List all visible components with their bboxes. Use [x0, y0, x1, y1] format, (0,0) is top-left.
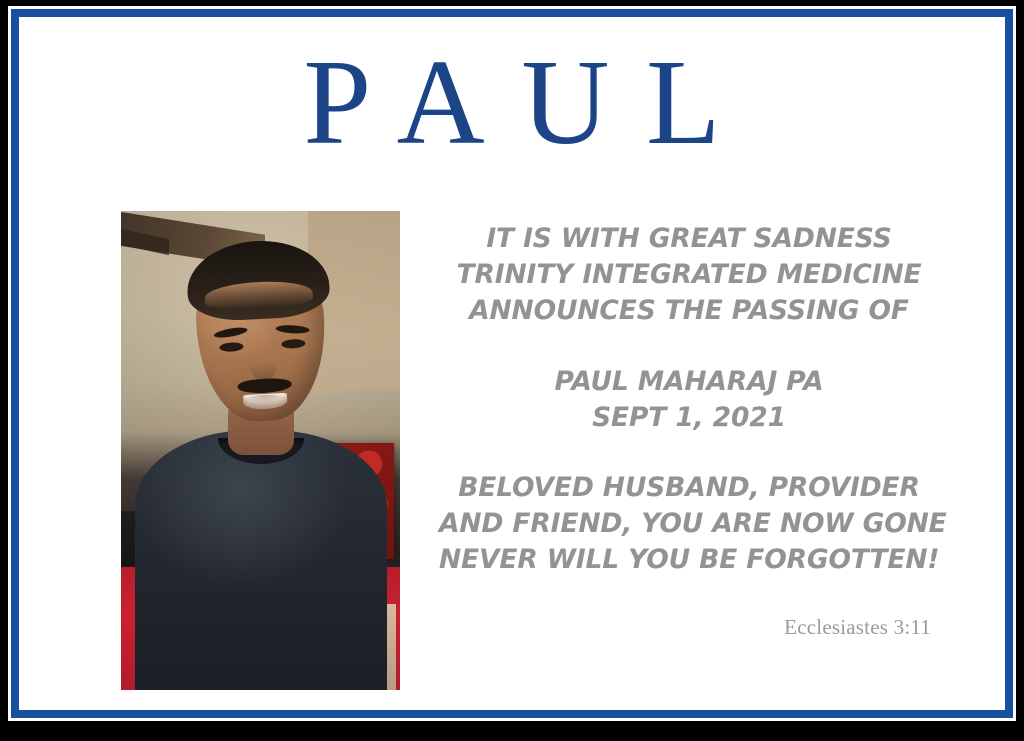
- announcement-page: PAUL: [19, 17, 1005, 710]
- message-line: NEVER WILL YOU BE FORGOTTEN!: [439, 542, 939, 578]
- message-block-announcement: IT IS WITH GREAT SADNESS TRINITY INTEGRA…: [439, 221, 939, 329]
- message-line: AND FRIEND, YOU ARE NOW GONE: [439, 506, 939, 542]
- page-title: PAUL: [19, 39, 1005, 167]
- message-block-tribute: BELOVED HUSBAND, PROVIDER AND FRIEND, YO…: [439, 470, 939, 578]
- message-line: TRINITY INTEGRATED MEDICINE: [439, 257, 939, 293]
- portrait-photo: [121, 211, 400, 690]
- person-torso: [135, 430, 387, 690]
- memorial-announcement: PAUL: [0, 0, 1024, 741]
- person-head: [192, 250, 329, 424]
- message-line: IT IS WITH GREAT SADNESS: [439, 221, 939, 257]
- deceased-name: PAUL MAHARAJ PA: [439, 364, 939, 400]
- person-eyebrow-right: [275, 324, 309, 334]
- memorial-message: IT IS WITH GREAT SADNESS TRINITY INTEGRA…: [439, 221, 939, 578]
- message-line: ANNOUNCES THE PASSING OF: [439, 293, 939, 329]
- date-of-passing: SEPT 1, 2021: [439, 400, 939, 436]
- scripture-citation: Ecclesiastes 3:11: [439, 615, 939, 640]
- person-mustache: [237, 377, 292, 394]
- photo-background: [121, 211, 400, 690]
- message-block-name-and-date: PAUL MAHARAJ PA SEPT 1, 2021: [439, 364, 939, 436]
- person-eye-left: [219, 342, 243, 352]
- person-eye-right: [281, 339, 305, 349]
- person-eyebrow-left: [213, 326, 248, 340]
- person-nose: [249, 350, 277, 381]
- message-line: BELOVED HUSBAND, PROVIDER: [439, 470, 939, 506]
